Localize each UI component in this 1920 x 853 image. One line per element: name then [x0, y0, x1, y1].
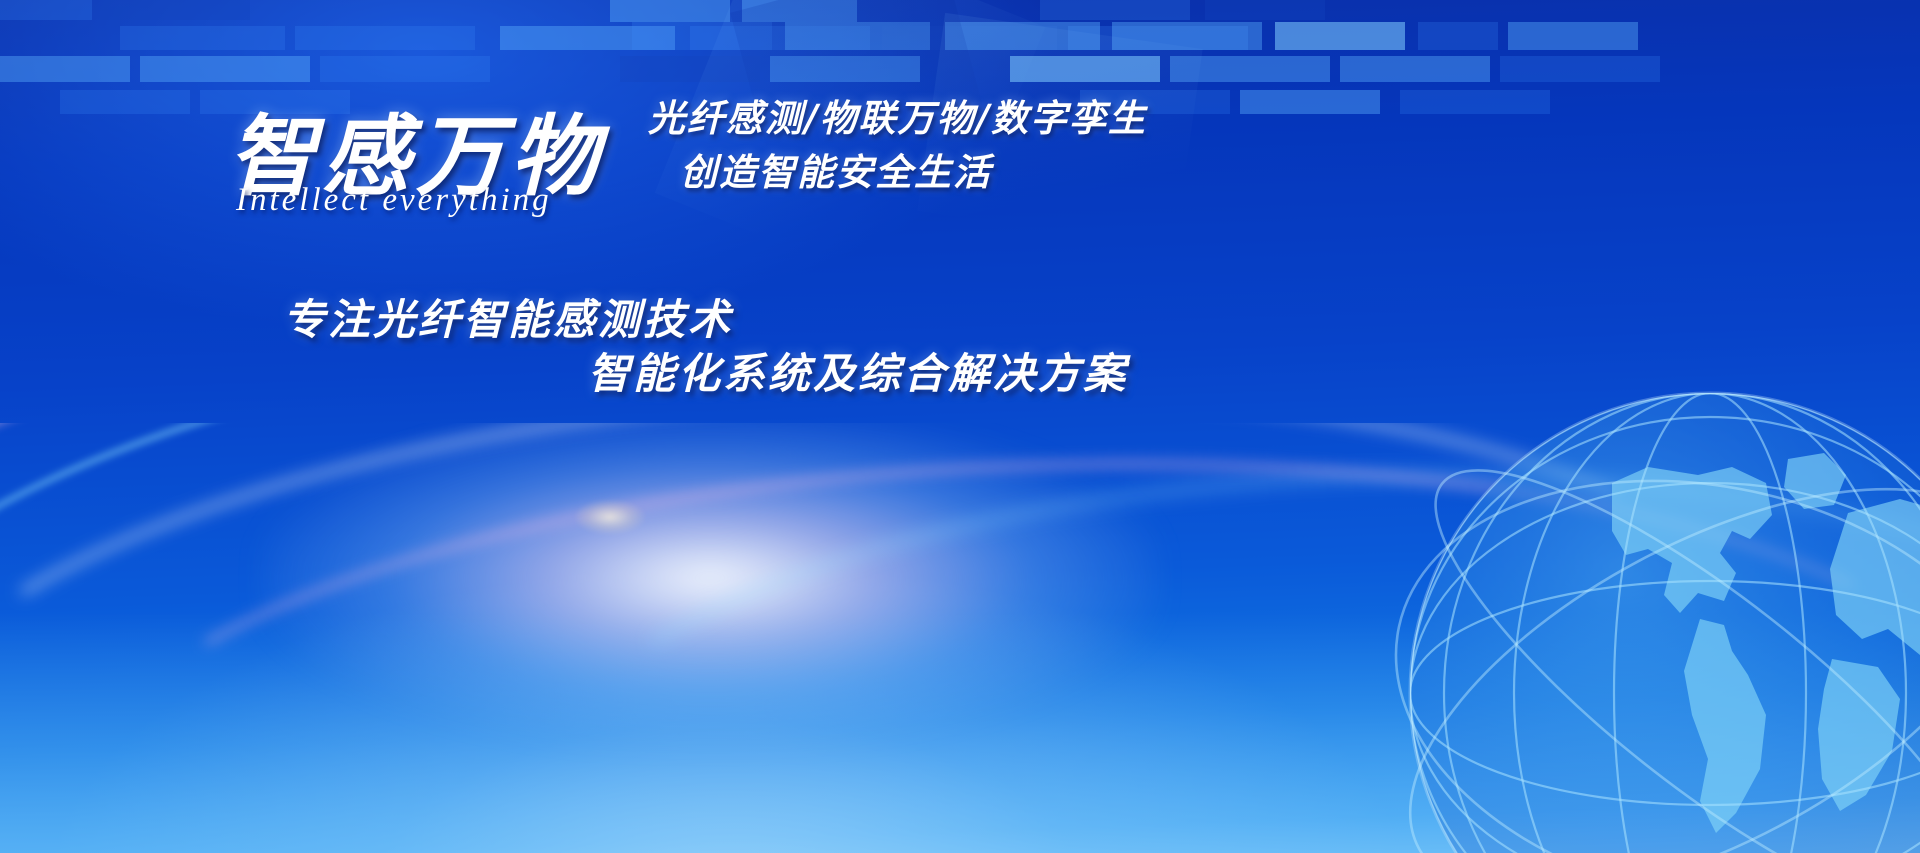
slogan-line-1: 光纤感测/物联万物/数字孪生 [648, 88, 1147, 142]
focus-line-2: 智能化系统及综合解决方案 [588, 340, 1128, 401]
focus-line-1: 专注光纤智能感测技术 [283, 286, 733, 347]
lens-flare-icon [575, 500, 645, 534]
slogan-line-2: 创造智能安全生活 [680, 142, 992, 196]
globe-icon [1380, 363, 1920, 853]
promotional-banner: 智感万物 Intellect everything 光纤感测/物联万物/数字孪生… [0, 0, 1920, 853]
page-subtitle-english: Intellect everything [236, 182, 552, 219]
